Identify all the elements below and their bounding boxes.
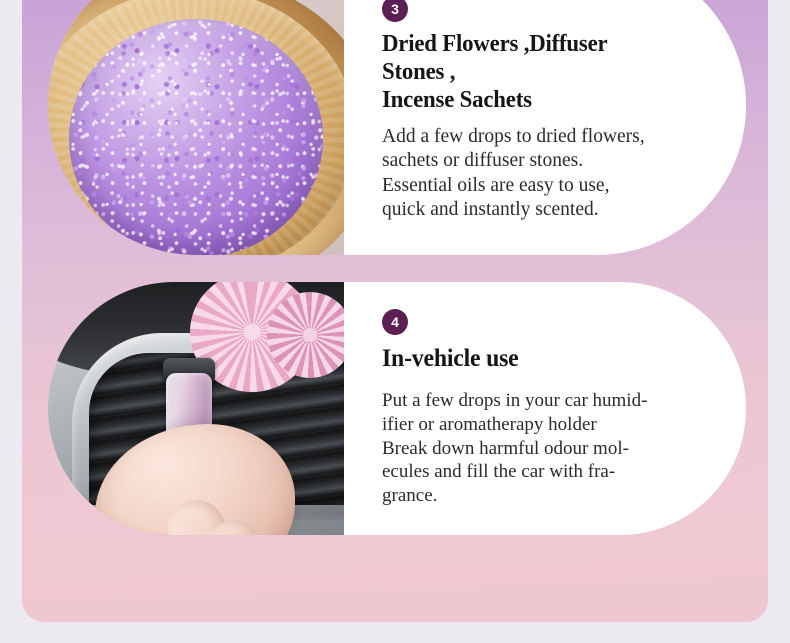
step-number-badge-4: 4	[382, 309, 408, 335]
infographic-page: 3 Dried Flowers ,Diffuser Stones , Incen…	[0, 0, 790, 643]
salt-crystal-texture	[69, 19, 324, 255]
car-vent-diffuser-photo	[48, 282, 344, 535]
feature-card-3-content: 3 Dried Flowers ,Diffuser Stones , Incen…	[344, 0, 746, 255]
purple-salt-bed	[69, 19, 324, 255]
car-photo-scene	[48, 282, 344, 535]
feature-card-3-body: Add a few drops to dried flowers, sachet…	[382, 125, 690, 223]
feature-card-4: 4 In-vehicle use Put a few drops in your…	[48, 282, 746, 535]
feature-card-4-headline: In-vehicle use	[382, 344, 675, 373]
pink-flower-secondary-icon	[267, 292, 344, 378]
bath-salt-bowl-photo	[48, 0, 344, 255]
feature-card-3: 3 Dried Flowers ,Diffuser Stones , Incen…	[48, 0, 746, 255]
feature-card-3-headline: Dried Flowers ,Diffuser Stones , Incense…	[382, 31, 675, 114]
salt-photo-scene	[48, 0, 344, 255]
feature-card-4-content: 4 In-vehicle use Put a few drops in your…	[344, 282, 746, 535]
step-number-badge-3: 3	[382, 0, 408, 22]
feature-card-4-body: Put a few drops in your car humid- ifier…	[382, 389, 690, 508]
gradient-panel: 3 Dried Flowers ,Diffuser Stones , Incen…	[22, 0, 768, 622]
